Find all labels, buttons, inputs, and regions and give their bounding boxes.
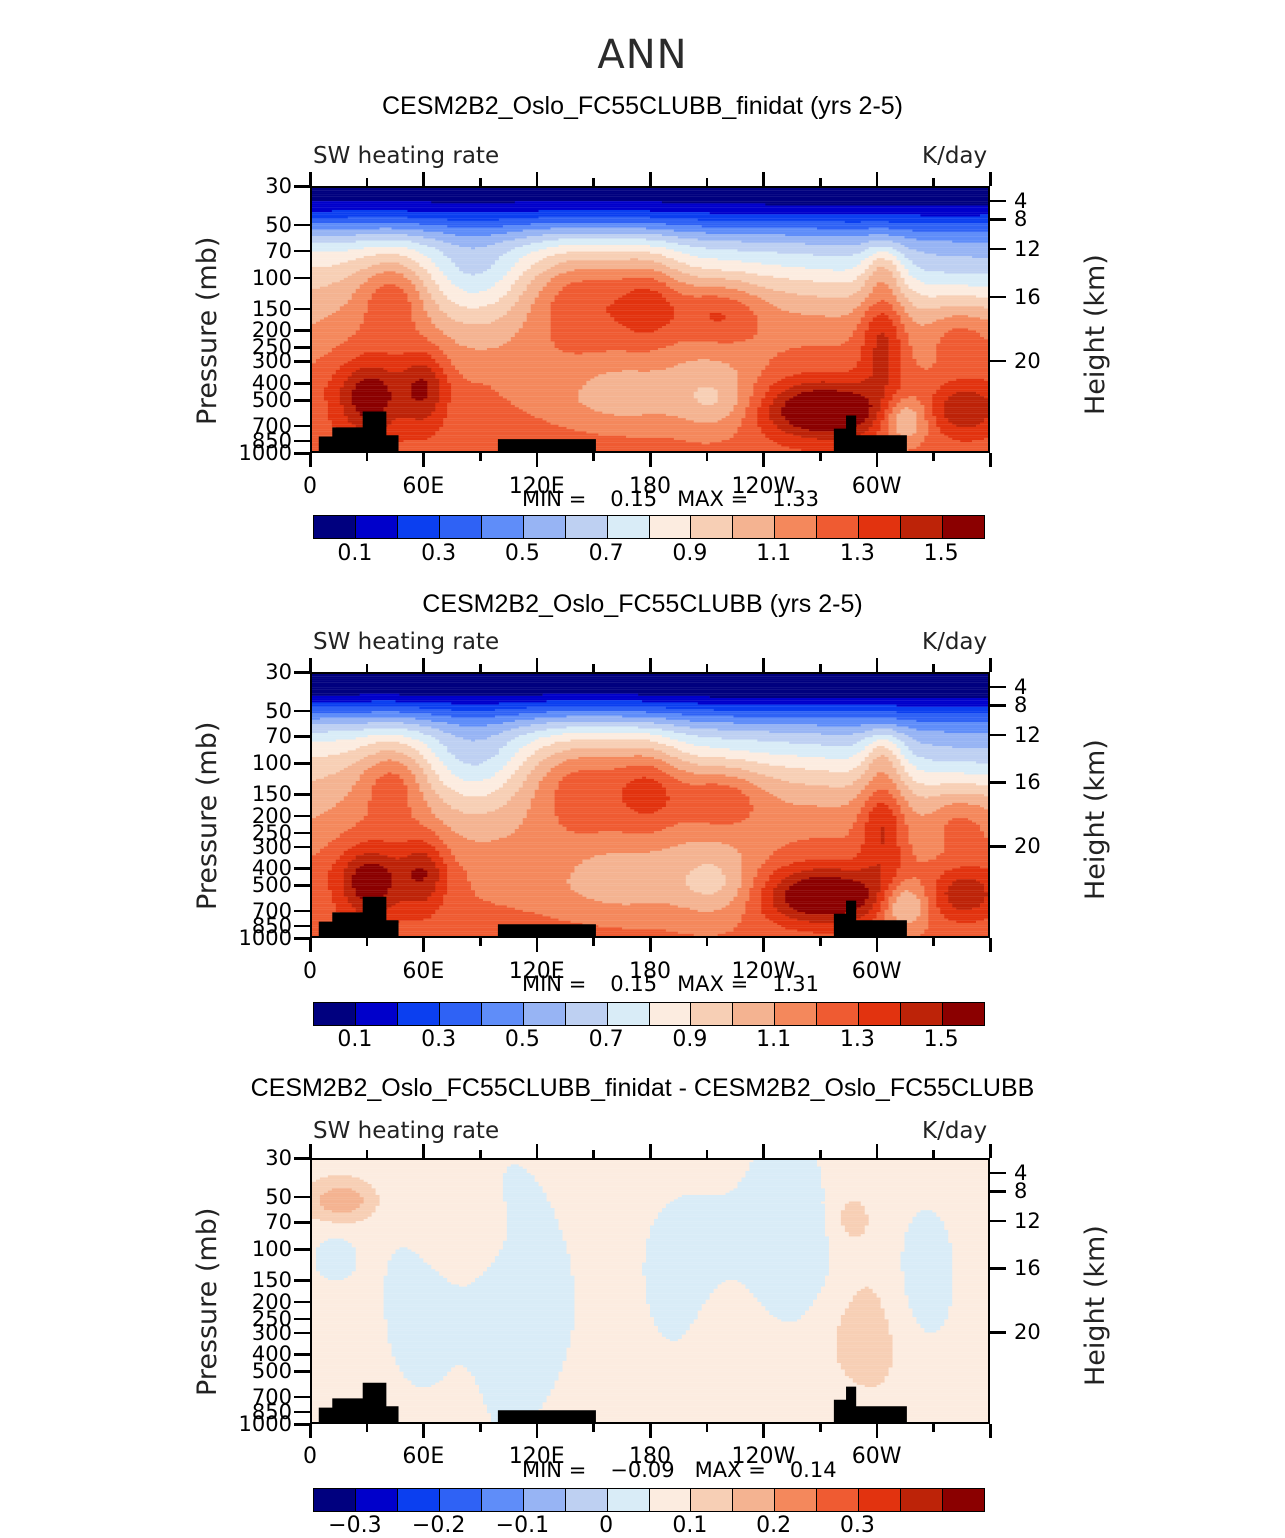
x-tick-top [819, 178, 822, 186]
x-tick-bottom [536, 1424, 539, 1438]
colorbar-tick-label: 0.7 [589, 1027, 624, 1052]
colorbar-swatch [314, 1003, 356, 1025]
x-tick-label: 60W [852, 1444, 902, 1469]
height-tick-label: 12 [1014, 237, 1041, 261]
height-tick [990, 1331, 1006, 1334]
colorbar-swatch [566, 516, 608, 538]
pressure-tick-label: 1000 [220, 926, 292, 950]
x-tick-top [366, 1150, 369, 1158]
colorbar-swatch [314, 516, 356, 538]
x-tick-bottom [932, 1424, 935, 1432]
x-tick-top [762, 172, 765, 186]
pressure-tick [294, 277, 310, 280]
colorbar-swatch [901, 1489, 943, 1511]
colorbar-swatch [733, 516, 775, 538]
min-value: −0.09 [610, 1458, 674, 1482]
height-tick-label: 20 [1014, 834, 1041, 858]
x-tick-bottom [762, 453, 765, 467]
x-tick-bottom [479, 1424, 482, 1432]
pressure-tick [294, 867, 310, 870]
x-tick-top [932, 1150, 935, 1158]
x-tick-bottom [989, 453, 992, 467]
colorbar-tick-label: 0.9 [672, 1027, 707, 1052]
colorbar-swatch [817, 1003, 859, 1025]
x-tick-top [649, 172, 652, 186]
pressure-tick [294, 1157, 310, 1160]
height-tick [990, 1267, 1006, 1270]
min-value: 0.15 [610, 487, 657, 511]
x-tick-top [762, 658, 765, 672]
variable-label-1: SW heating rate [313, 143, 499, 169]
colorbar-swatch [398, 516, 440, 538]
colorbar-tick-label: −0.1 [496, 1513, 549, 1538]
x-tick-top [989, 172, 992, 186]
colorbar-swatch [566, 1003, 608, 1025]
colorbar-swatch [859, 1489, 901, 1511]
x-tick-bottom [422, 453, 425, 467]
x-tick-top [479, 178, 482, 186]
x-tick-top [706, 178, 709, 186]
min-label: MIN = [522, 972, 586, 996]
pressure-tick-label: 300 [220, 349, 292, 373]
height-tick [990, 200, 1006, 203]
x-tick-top [649, 658, 652, 672]
colorbar-swatch [356, 1489, 398, 1511]
colorbar-tick-label: 0.2 [756, 1513, 791, 1538]
plot-area-2[interactable] [310, 672, 990, 938]
x-tick-top [819, 664, 822, 672]
colorbar-swatch [817, 1489, 859, 1511]
colorbar-3[interactable] [313, 1488, 985, 1512]
x-tick-top [309, 1144, 312, 1158]
colorbar-swatch [524, 1003, 566, 1025]
colorbar-tick-label: 0.1 [337, 1027, 372, 1052]
x-tick-bottom [762, 1424, 765, 1438]
colorbar-tick-label: 0.5 [505, 541, 540, 566]
x-tick-top [989, 1144, 992, 1158]
x-tick-bottom [989, 1424, 992, 1438]
colorbar-swatch [733, 1003, 775, 1025]
pressure-tick [294, 1221, 310, 1224]
height-tick [990, 1190, 1006, 1193]
height-tick [990, 686, 1006, 689]
height-tick [990, 248, 1006, 251]
colorbar-tick-label: 1.1 [756, 541, 791, 566]
height-tick-label: 16 [1014, 285, 1041, 309]
colorbar-swatch [901, 1003, 943, 1025]
pressure-tick-label: 100 [220, 266, 292, 290]
pressure-tick [294, 793, 310, 796]
min-label: MIN = [522, 487, 586, 511]
colorbar-swatch [440, 1489, 482, 1511]
x-tick-bottom [932, 453, 935, 461]
x-tick-top [592, 1150, 595, 1158]
x-tick-top [706, 1150, 709, 1158]
height-tick [990, 1220, 1006, 1223]
x-tick-bottom [366, 1424, 369, 1432]
panel-title-2: CESM2B2_Oslo_FC55CLUBB (yrs 2-5) [0, 590, 1285, 619]
x-tick-bottom [536, 938, 539, 952]
pressure-tick-label: 150 [220, 297, 292, 321]
colorbar-tick-label: 0.9 [672, 541, 707, 566]
x-tick-label: 0 [303, 1444, 317, 1469]
pressure-tick-label: 1000 [220, 1412, 292, 1436]
height-tick [990, 734, 1006, 737]
colorbar-swatch [566, 1489, 608, 1511]
pressure-tick-label: 100 [220, 751, 292, 775]
colorbar-swatch [482, 1489, 524, 1511]
colorbar-swatch [608, 1489, 650, 1511]
colorbar-tick-label: 1.1 [756, 1027, 791, 1052]
colorbar-tick-label: 0.1 [672, 1513, 707, 1538]
height-tick-label: 12 [1014, 1209, 1041, 1233]
pressure-tick [294, 1332, 310, 1335]
x-tick-top [309, 658, 312, 672]
colorbar-swatch [356, 1003, 398, 1025]
height-tick-label: 20 [1014, 1320, 1041, 1344]
units-label-2: K/day [922, 629, 987, 655]
x-tick-top [989, 658, 992, 672]
pressure-tick-label: 500 [220, 873, 292, 897]
x-tick-top [366, 664, 369, 672]
contour-field-3 [312, 1160, 988, 1422]
colorbar-swatch [524, 1489, 566, 1511]
height-tick [990, 218, 1006, 221]
colorbar-swatch [775, 1003, 817, 1025]
colorbar-tick-label: 0.1 [337, 541, 372, 566]
panel-title-3: CESM2B2_Oslo_FC55CLUBB_finidat - CESM2B2… [0, 1074, 1285, 1103]
x-tick-label: 60E [402, 959, 444, 984]
x-tick-label: 60E [402, 474, 444, 499]
x-tick-bottom [366, 938, 369, 946]
x-tick-bottom [592, 453, 595, 461]
pressure-tick [294, 1301, 310, 1304]
colorbar-tick-label: 1.3 [840, 541, 875, 566]
pressure-axis-title-2: Pressure (mb) [192, 722, 223, 910]
x-tick-top [536, 658, 539, 672]
colorbar-swatch [482, 516, 524, 538]
x-tick-label: 60W [852, 474, 902, 499]
pressure-tick [294, 399, 310, 402]
pressure-tick [294, 1279, 310, 1282]
min-value: 0.15 [610, 972, 657, 996]
x-tick-top [422, 172, 425, 186]
contour-field-1 [312, 188, 988, 451]
units-label-3: K/day [922, 1118, 987, 1144]
x-tick-bottom [479, 938, 482, 946]
x-tick-bottom [309, 453, 312, 467]
pressure-tick [294, 1370, 310, 1373]
x-tick-top [479, 664, 482, 672]
colorbar-swatch [775, 516, 817, 538]
x-tick-top [762, 1144, 765, 1158]
colorbar-swatch [524, 516, 566, 538]
colorbar-tick-label: 1.3 [840, 1027, 875, 1052]
pressure-tick-label: 300 [220, 1321, 292, 1345]
colorbar-swatch [482, 1003, 524, 1025]
x-tick-bottom [592, 1424, 595, 1432]
height-tick-label: 20 [1014, 349, 1041, 373]
minmax-line-1: MIN =0.15MAX =1.33 [522, 487, 819, 511]
pressure-tick [294, 346, 310, 349]
x-tick-bottom [706, 1424, 709, 1432]
height-tick [990, 360, 1006, 363]
colorbar-swatch [440, 1003, 482, 1025]
height-tick-label: 4 [1014, 189, 1027, 213]
pressure-tick [294, 910, 310, 913]
height-tick [990, 1172, 1006, 1175]
x-tick-bottom [876, 1424, 879, 1438]
pressure-tick-label: 1000 [220, 441, 292, 465]
colorbar-tick-label: 0.7 [589, 541, 624, 566]
pressure-tick [294, 452, 310, 455]
x-tick-label: 0 [303, 474, 317, 499]
pressure-tick-label: 50 [220, 699, 292, 723]
x-tick-bottom [536, 453, 539, 467]
pressure-tick [294, 1196, 310, 1199]
max-value: 0.14 [790, 1458, 837, 1482]
x-tick-bottom [819, 453, 822, 461]
colorbar-swatch [817, 516, 859, 538]
pressure-tick [294, 440, 310, 443]
pressure-axis-title-1: Pressure (mb) [192, 236, 223, 424]
x-tick-bottom [592, 938, 595, 946]
pressure-tick [294, 937, 310, 940]
x-tick-top [876, 1144, 879, 1158]
variable-label-3: SW heating rate [313, 1118, 499, 1144]
x-tick-top [876, 172, 879, 186]
max-label: MAX = [677, 487, 748, 511]
colorbar-swatch [650, 516, 692, 538]
x-tick-bottom [706, 453, 709, 461]
x-tick-top [309, 172, 312, 186]
colorbar-swatch [691, 1003, 733, 1025]
colorbar-swatch [314, 1489, 356, 1511]
colorbar-2[interactable] [313, 1002, 985, 1026]
pressure-tick [294, 360, 310, 363]
pressure-tick [294, 1248, 310, 1251]
pressure-tick [294, 762, 310, 765]
pressure-tick-label: 70 [220, 724, 292, 748]
x-tick-bottom [706, 938, 709, 946]
x-tick-top [592, 178, 595, 186]
colorbar-swatch [398, 1003, 440, 1025]
pressure-tick [294, 1411, 310, 1414]
pressure-tick [294, 1396, 310, 1399]
colorbar-swatch [691, 1489, 733, 1511]
pressure-tick-label: 150 [220, 1268, 292, 1292]
colorbar-swatch [943, 1489, 984, 1511]
figure-suptitle: ANN [0, 32, 1285, 78]
colorbar-swatch [943, 516, 984, 538]
pressure-tick [294, 185, 310, 188]
x-tick-bottom [422, 1424, 425, 1438]
x-tick-top [649, 1144, 652, 1158]
min-label: MIN = [522, 1458, 586, 1482]
pressure-tick [294, 250, 310, 253]
pressure-tick [294, 308, 310, 311]
height-tick [990, 296, 1006, 299]
colorbar-swatch [859, 516, 901, 538]
pressure-tick [294, 382, 310, 385]
x-tick-top [592, 664, 595, 672]
colorbar-tick-label: −0.3 [328, 1513, 381, 1538]
height-tick-label: 16 [1014, 1256, 1041, 1280]
pressure-tick [294, 710, 310, 713]
height-axis-title-2: Height (km) [1080, 739, 1111, 900]
x-tick-top [876, 658, 879, 672]
x-tick-bottom [309, 938, 312, 952]
pressure-tick-label: 30 [220, 1146, 292, 1170]
x-tick-bottom [309, 1424, 312, 1438]
x-tick-bottom [819, 1424, 822, 1432]
pressure-tick [294, 1353, 310, 1356]
pressure-tick-label: 100 [220, 1237, 292, 1261]
colorbar-swatch [943, 1003, 984, 1025]
colorbar-tick-label: 0.3 [840, 1513, 875, 1538]
colorbar-tick-label: 0 [599, 1513, 613, 1538]
x-tick-bottom [479, 453, 482, 461]
x-tick-bottom [649, 453, 652, 467]
pressure-tick [294, 815, 310, 818]
x-tick-top [932, 664, 935, 672]
height-tick [990, 704, 1006, 707]
colorbar-tick-label: 0.3 [421, 541, 456, 566]
x-tick-bottom [422, 938, 425, 952]
x-tick-bottom [876, 938, 879, 952]
pressure-tick-label: 500 [220, 388, 292, 412]
pressure-tick [294, 329, 310, 332]
height-tick-label: 12 [1014, 723, 1041, 747]
x-tick-top [422, 658, 425, 672]
pressure-tick [294, 884, 310, 887]
height-axis-title-3: Height (km) [1080, 1225, 1111, 1386]
colorbar-tick-label: −0.2 [412, 1513, 465, 1538]
x-tick-bottom [989, 938, 992, 952]
pressure-tick [294, 1318, 310, 1321]
colorbar-swatch [859, 1003, 901, 1025]
colorbar-swatch [398, 1489, 440, 1511]
height-axis-title-1: Height (km) [1080, 254, 1111, 415]
x-tick-top [479, 1150, 482, 1158]
colorbar-tick-label: 1.5 [924, 541, 959, 566]
colorbar-1[interactable] [313, 515, 985, 539]
pressure-tick-label: 500 [220, 1359, 292, 1383]
pressure-tick [294, 925, 310, 928]
x-tick-top [536, 1144, 539, 1158]
pressure-tick-label: 50 [220, 213, 292, 237]
pressure-axis-title-3: Pressure (mb) [192, 1208, 223, 1396]
x-tick-top [536, 172, 539, 186]
pressure-tick-label: 50 [220, 1185, 292, 1209]
colorbar-swatch [650, 1003, 692, 1025]
colorbar-swatch [608, 1003, 650, 1025]
pressure-tick [294, 846, 310, 849]
colorbar-swatch [440, 516, 482, 538]
pressure-tick-label: 300 [220, 835, 292, 859]
x-tick-top [366, 178, 369, 186]
panel-title-1: CESM2B2_Oslo_FC55CLUBB_finidat (yrs 2-5) [0, 92, 1285, 121]
colorbar-swatch [775, 1489, 817, 1511]
x-tick-top [422, 1144, 425, 1158]
x-tick-bottom [876, 453, 879, 467]
colorbar-swatch [901, 516, 943, 538]
colorbar-tick-label: 0.5 [505, 1027, 540, 1052]
height-tick [990, 781, 1006, 784]
minmax-line-3: MIN =−0.09MAX =0.14 [522, 1458, 837, 1482]
x-tick-label: 0 [303, 959, 317, 984]
height-tick-label: 4 [1014, 675, 1027, 699]
pressure-tick [294, 832, 310, 835]
x-tick-top [819, 1150, 822, 1158]
pressure-tick [294, 671, 310, 674]
height-tick-label: 16 [1014, 770, 1041, 794]
x-tick-bottom [762, 938, 765, 952]
x-tick-bottom [366, 453, 369, 461]
pressure-tick [294, 224, 310, 227]
x-tick-label: 60E [402, 1444, 444, 1469]
x-tick-bottom [649, 1424, 652, 1438]
colorbar-swatch [356, 516, 398, 538]
pressure-tick-label: 70 [220, 239, 292, 263]
x-tick-bottom [932, 938, 935, 946]
colorbar-swatch [691, 516, 733, 538]
colorbar-swatch [650, 1489, 692, 1511]
plot-area-1[interactable] [310, 186, 990, 453]
max-value: 1.31 [772, 972, 819, 996]
pressure-tick [294, 735, 310, 738]
pressure-tick-label: 30 [220, 660, 292, 684]
colorbar-tick-label: 0.3 [421, 1027, 456, 1052]
max-label: MAX = [677, 972, 748, 996]
max-value: 1.33 [772, 487, 819, 511]
pressure-tick [294, 1423, 310, 1426]
pressure-tick-label: 70 [220, 1210, 292, 1234]
pressure-tick-label: 30 [220, 174, 292, 198]
height-tick-label: 4 [1014, 1161, 1027, 1185]
height-tick [990, 845, 1006, 848]
x-tick-bottom [819, 938, 822, 946]
units-label-1: K/day [922, 143, 987, 169]
colorbar-swatch [733, 1489, 775, 1511]
max-label: MAX = [695, 1458, 766, 1482]
colorbar-tick-label: 1.5 [924, 1027, 959, 1052]
minmax-line-2: MIN =0.15MAX =1.31 [522, 972, 819, 996]
plot-area-3[interactable] [310, 1158, 990, 1424]
pressure-tick [294, 425, 310, 428]
pressure-tick-label: 150 [220, 782, 292, 806]
x-tick-bottom [649, 938, 652, 952]
contour-field-2 [312, 674, 988, 936]
colorbar-swatch [608, 516, 650, 538]
x-tick-top [932, 178, 935, 186]
x-tick-top [706, 664, 709, 672]
variable-label-2: SW heating rate [313, 629, 499, 655]
x-tick-label: 60W [852, 959, 902, 984]
